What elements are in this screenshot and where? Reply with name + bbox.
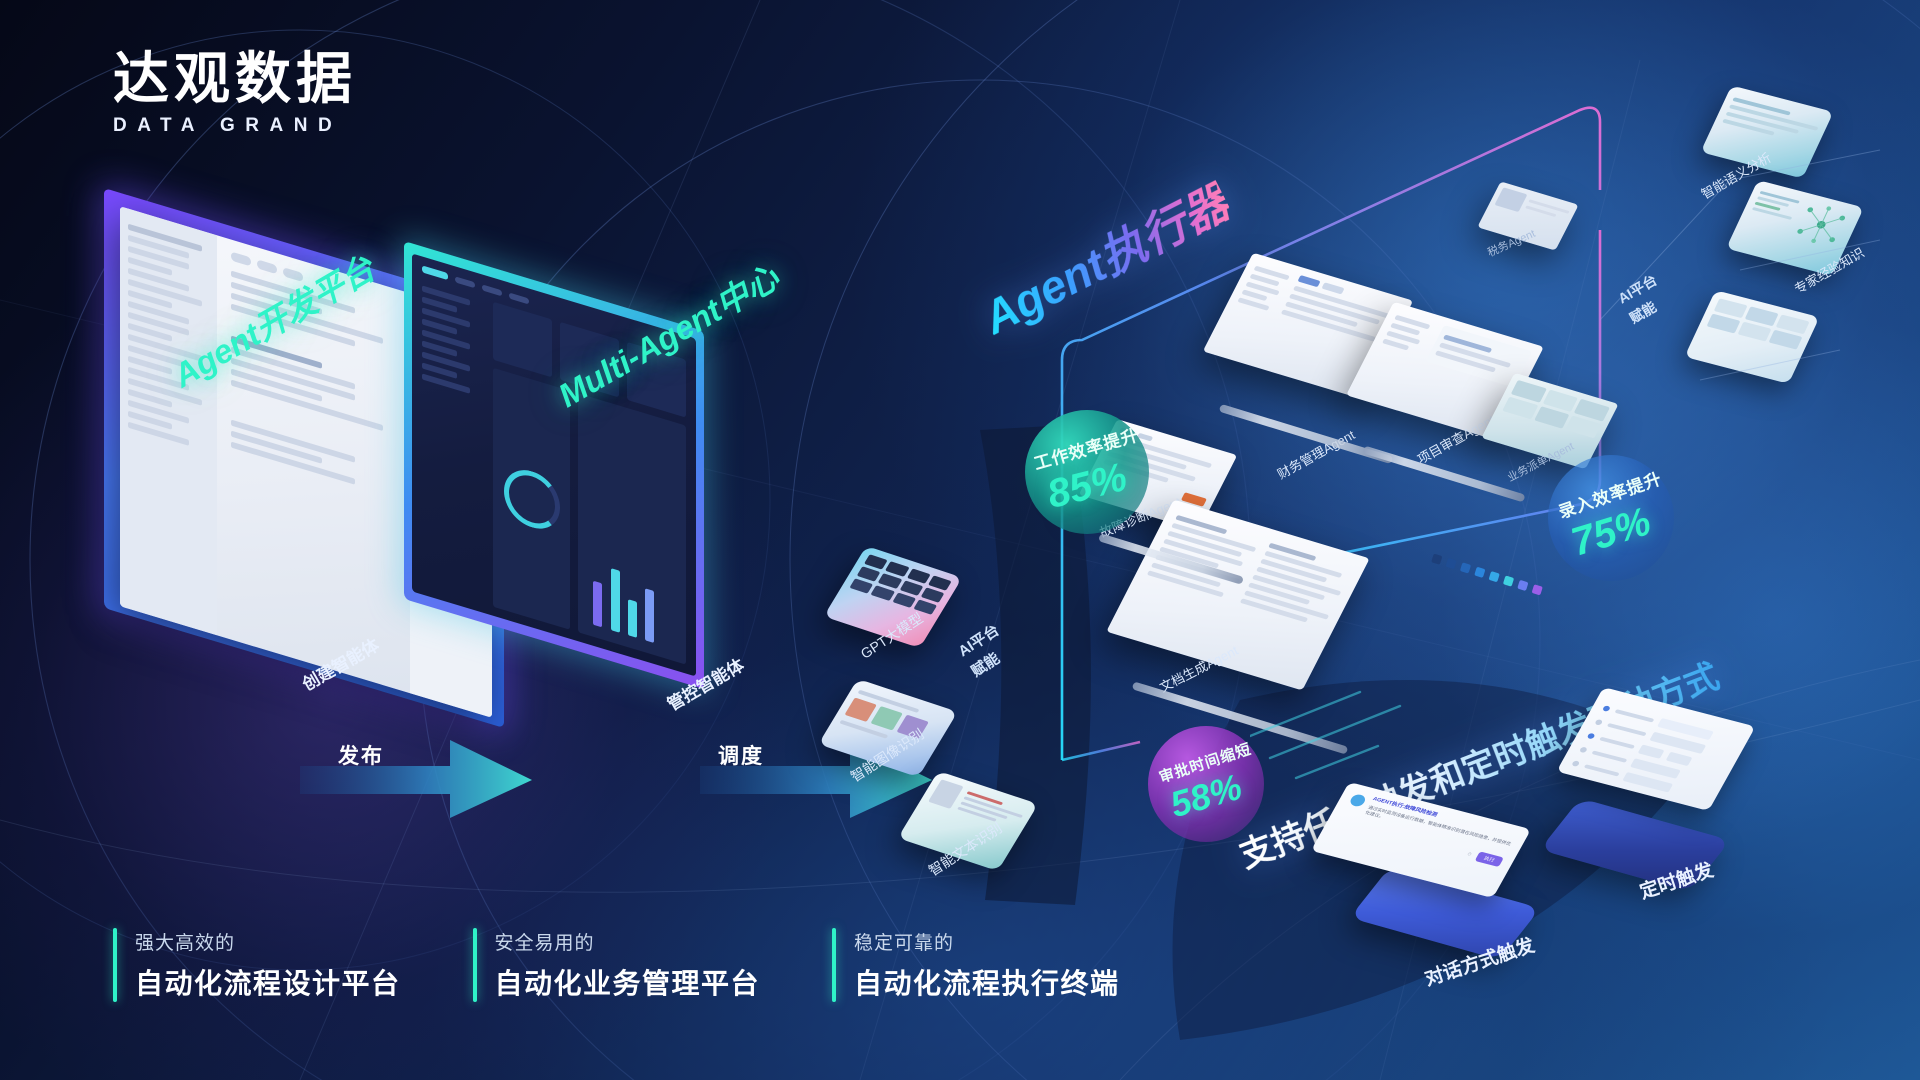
section-title-exec: Agent执行器	[970, 167, 1239, 348]
infographic-canvas: 达观数据 DATA GRAND	[0, 0, 1920, 1080]
trigger-chat-button[interactable]: 执行	[1475, 851, 1504, 867]
caption-main: 自动化业务管理平台	[495, 962, 761, 1002]
caption-rule	[473, 928, 477, 1002]
ai-card-extra[interactable]	[1684, 290, 1819, 384]
caption-main: 自动化流程执行终端	[854, 962, 1120, 1002]
caption-item: 安全易用的 自动化业务管理平台	[473, 928, 761, 1002]
caption-rule	[832, 928, 836, 1002]
caption-top: 安全易用的	[495, 928, 761, 955]
ai-platform-label-right: AI平台 赋能	[1614, 270, 1672, 328]
bottom-captions: 强大高效的 自动化流程设计平台 安全易用的 自动化业务管理平台 稳定可靠的 自动…	[113, 928, 1120, 1002]
caption-main: 自动化流程设计平台	[135, 962, 401, 1002]
caption-item: 稳定可靠的 自动化流程执行终端	[832, 928, 1120, 1002]
stat-bubble-efficiency: 工作效率提升 85%	[1025, 410, 1149, 534]
caption-rule	[113, 928, 117, 1002]
trigger-chat-meta: ⏱	[1466, 852, 1472, 857]
brand-name-cn: 达观数据	[113, 50, 373, 109]
stat-bubble-entry: 录入效率提升 75%	[1548, 455, 1674, 581]
caption-top: 强大高效的	[135, 928, 401, 955]
knowledge-graph-icon	[1789, 200, 1853, 250]
agent-avatar-icon	[1348, 793, 1367, 808]
brand-name-en: DATA GRAND	[113, 115, 373, 137]
brand-logo: 达观数据 DATA GRAND	[113, 50, 373, 137]
flow-arrow-publish-label: 发布	[338, 740, 384, 770]
ai-platform-label-left: AI平台 赋能	[954, 619, 1016, 681]
flow-arrow-schedule-label: 调度	[718, 740, 764, 770]
progress-dot-strip	[1431, 554, 1543, 596]
caption-top: 稳定可靠的	[854, 928, 1120, 955]
agent-screen-document[interactable]	[1106, 500, 1370, 691]
caption-item: 强大高效的 自动化流程设计平台	[113, 928, 401, 1002]
